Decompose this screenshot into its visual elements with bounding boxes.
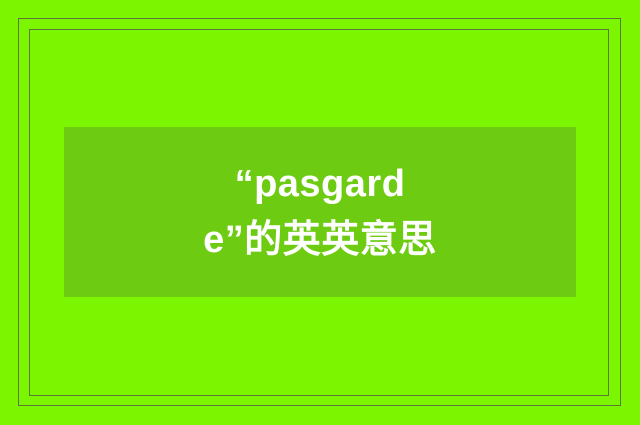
title-banner: “pasgarde”的英英意思 <box>64 127 576 297</box>
page-title: “pasgarde”的英英意思 <box>196 156 444 268</box>
slide-canvas: “pasgarde”的英英意思 <box>0 0 640 425</box>
